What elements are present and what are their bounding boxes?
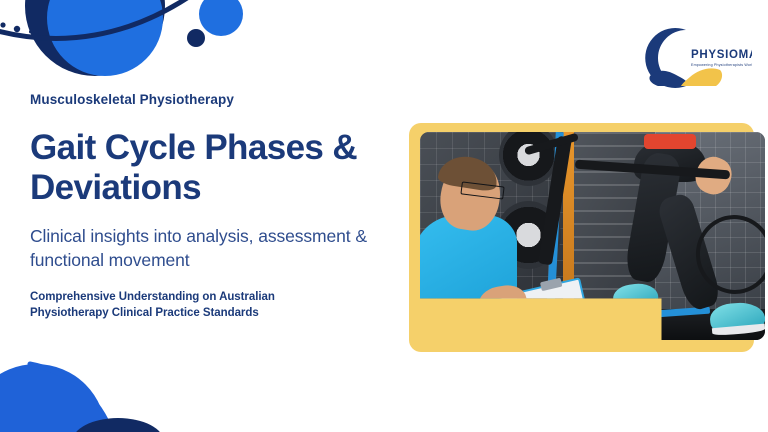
navy-dash-shape [29, 30, 39, 33]
physiomates-logo: PHYSIOMATES Empowering Physiotherapists … [634, 22, 752, 94]
navy-dot-small-b [0, 22, 5, 27]
blue-circle-shape [47, 0, 163, 76]
navy-dot-small-a [14, 26, 20, 32]
photo-runner-waistband [644, 134, 696, 149]
photo-block [409, 123, 754, 352]
blue-dot-large [199, 0, 243, 36]
blue-arc-bottom [30, 364, 112, 432]
navy-arc-shape [0, 0, 196, 38]
navy-shape-bottom [72, 418, 164, 432]
navy-circle-shape [25, 0, 165, 76]
navy-dot-medium [187, 29, 205, 47]
presentation-slide: PHYSIOMATES Empowering Physiotherapists … [0, 0, 768, 432]
slide-text-column: Musculoskeletal Physiotherapy Gait Cycle… [30, 92, 402, 322]
blue-circle-bottom [0, 364, 106, 432]
slide-subheadline: Clinical insights into analysis, assessm… [30, 224, 398, 272]
logo-brand-text: PHYSIOMATES [691, 49, 752, 61]
logo-hand-yellow [681, 68, 722, 86]
decoration-bottom-left [0, 342, 210, 432]
logo-tagline-text: Empowering Physiotherapists Worldwide [691, 63, 752, 67]
slide-footnote: Comprehensive Understanding on Australia… [30, 289, 330, 322]
slide-headline: Gait Cycle Phases & Deviations [30, 128, 390, 207]
slide-eyebrow: Musculoskeletal Physiotherapy [30, 92, 402, 108]
